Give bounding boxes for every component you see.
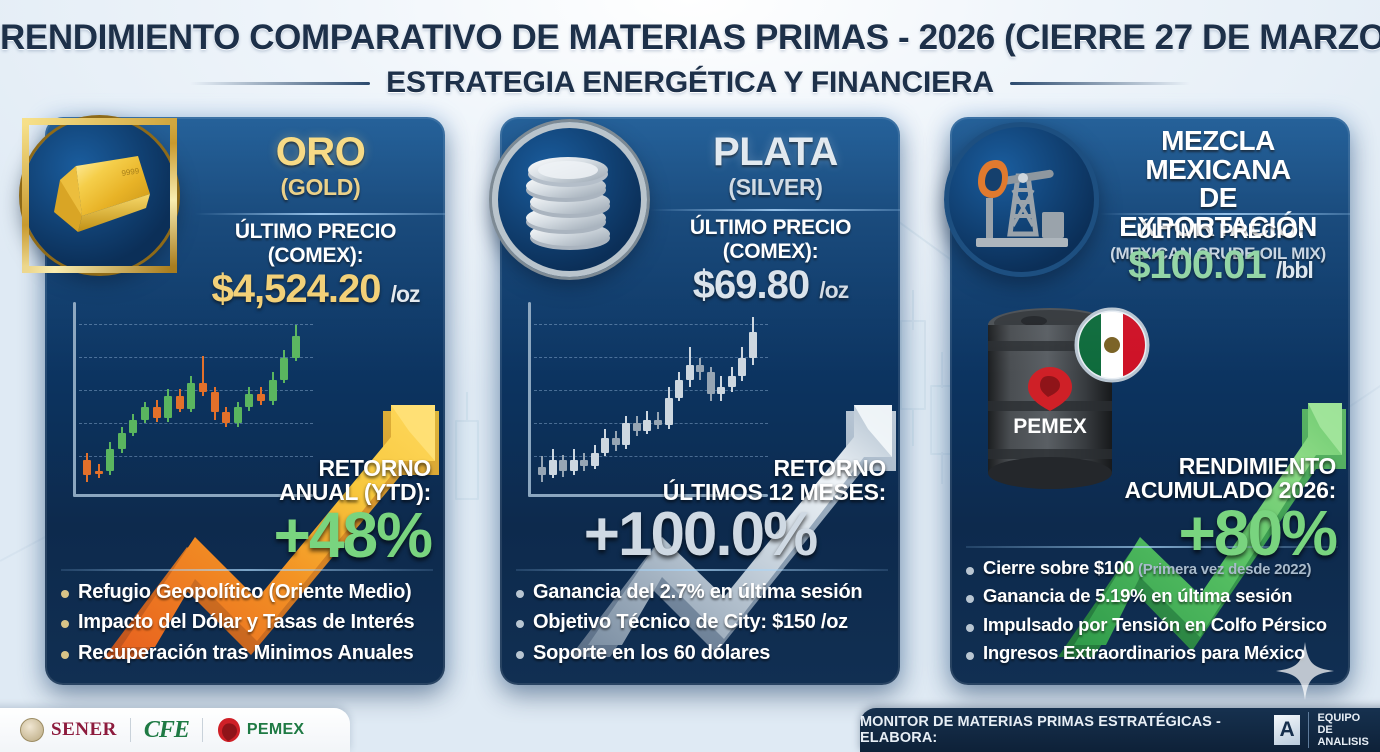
oil-bullet-1-text: Cierre sobre $100 (983, 557, 1134, 578)
bullet-dot-icon (61, 651, 69, 659)
list-item: Recuperación tras Minimos Anuales (61, 641, 433, 665)
bullet-dot-icon (966, 595, 974, 603)
list-item: Impacto del Dólar y Tasas de Interés (61, 610, 433, 634)
oil-badge (944, 122, 1099, 277)
list-item: Impulsado por Tensión en Colfo Pérsico (966, 614, 1338, 637)
gold-bar-icon: 9999 (46, 150, 154, 242)
team-logo: A EQUIPO DE ANALISIS (1274, 712, 1372, 749)
gold-bullet-3: Recuperación tras Minimos Anuales (78, 641, 414, 665)
team-label-line1: EQUIPO DE (1317, 712, 1360, 736)
team-label-line2: ANALISIS (1317, 736, 1368, 748)
silver-price-number: $69.80 (693, 263, 809, 307)
bullet-dot-icon (516, 651, 524, 659)
mexico-flag-icon (1076, 309, 1148, 381)
silver-coins-icon (514, 144, 626, 256)
silver-badge (492, 122, 647, 277)
oil-price-block: ÚLTIMO PRECIO: $100.01 /bbl (1105, 220, 1336, 286)
list-item: Ganancia del 2.7% en última sesión (516, 580, 888, 604)
footer-separator (202, 718, 203, 742)
gold-return-label-1: RETORNO (274, 457, 431, 481)
gold-bullets: Refugio Geopolítico (Oriente Medio) Impa… (61, 569, 433, 671)
oil-price-unit: /bbl (1276, 257, 1313, 283)
subtitle-row: ESTRATEGIA ENERGÉTICA Y FINANCIERA (0, 66, 1380, 100)
bullet-dot-icon (61, 620, 69, 628)
cfe-logo: CFE (144, 717, 189, 744)
footer-right-bar: MONITOR DE MATERIAS PRIMAS ESTRATÉGICAS … (860, 708, 1380, 752)
gold-price-block: ÚLTIMO PRECIO (COMEX): $4,524.20 /oz (200, 220, 431, 310)
list-item: Ganancia de 5.19% en última sesión (966, 585, 1338, 608)
oil-return-value: +80% (1125, 503, 1336, 564)
oil-price-number: $100.01 (1128, 243, 1266, 287)
team-mark-icon: A (1274, 715, 1301, 745)
footer-monitor-text: MONITOR DE MATERIAS PRIMAS ESTRATÉGICAS … (860, 714, 1262, 746)
gold-return-block: RETORNO ANUAL (YTD): +48% (274, 457, 431, 566)
silver-return-label-1: RETORNO (514, 457, 886, 481)
oil-name-1: MEZCLA MEXICANA (1100, 127, 1336, 184)
bullet-dot-icon (966, 652, 974, 660)
oil-bullet-2: Ganancia de 5.19% en última sesión (983, 585, 1292, 608)
svg-text:PEMEX: PEMEX (1013, 415, 1087, 438)
gold-header: ORO (GOLD) (210, 133, 431, 201)
oil-pumpjack-icon (966, 146, 1078, 254)
bullet-dot-icon (516, 620, 524, 628)
gold-subname: (GOLD) (210, 174, 431, 201)
gold-return-value: +48% (274, 505, 431, 566)
gold-chart-y-axis (73, 302, 76, 497)
silver-bullet-2: Objetivo Técnico de City: $150 /oz (533, 610, 848, 634)
gold-divider (195, 213, 445, 215)
gold-badge: 9999 (22, 118, 177, 273)
subtitle-rule-left (190, 82, 370, 85)
page-title: RENDIMIENTO COMPARATIVO DE MATERIAS PRIM… (0, 0, 1380, 58)
silver-return-value: +100.0% (514, 505, 886, 565)
list-item: Objetivo Técnico de City: $150 /oz (516, 610, 888, 634)
team-label: EQUIPO DE ANALISIS (1308, 712, 1372, 749)
silver-price-unit: /oz (819, 277, 848, 303)
oil-return-block: RENDIMIENTO ACUMULADO 2026: +80% (1125, 455, 1336, 564)
silver-name: PLATA (665, 133, 886, 172)
gold-price-label: ÚLTIMO PRECIO (COMEX): (200, 220, 431, 268)
bullet-dot-icon (516, 590, 524, 598)
footer-left-logos: SENER CFE PEMEX (0, 708, 350, 752)
pemex-mark-icon (216, 716, 242, 744)
bullet-dot-icon (966, 624, 974, 632)
sparkle-decoration-icon (1276, 642, 1334, 700)
page-header: RENDIMIENTO COMPARATIVO DE MATERIAS PRIM… (0, 0, 1380, 100)
silver-subname: (SILVER) (665, 174, 886, 201)
silver-bullet-1: Ganancia del 2.7% en última sesión (533, 580, 862, 604)
oil-price-value: $100.01 /bbl (1105, 244, 1336, 286)
silver-bullet-3: Soporte en los 60 dólares (533, 641, 770, 665)
silver-price-label: ÚLTIMO PRECIO (COMEX): (655, 216, 886, 264)
silver-bullets: Ganancia del 2.7% en última sesión Objet… (516, 569, 888, 671)
bullet-dot-icon (966, 567, 974, 575)
silver-return-block: RETORNO ÚLTIMOS 12 MESES: +100.0% (514, 457, 886, 564)
gold-name: ORO (210, 133, 431, 172)
silver-header: PLATA (SILVER) (665, 133, 886, 201)
oil-return-label-1: RENDIMIENTO (1125, 455, 1336, 479)
bullet-dot-icon (61, 590, 69, 598)
panels-container: ORO (GOLD) ÚLTIMO PRECIO (COMEX): $4,524… (0, 117, 1380, 692)
silver-price-value: $69.80 /oz (655, 264, 886, 306)
mexico-seal-icon (20, 718, 44, 742)
page-subtitle: ESTRATEGIA ENERGÉTICA Y FINANCIERA (386, 66, 994, 100)
gold-bullet-2: Impacto del Dólar y Tasas de Interés (78, 610, 414, 634)
list-item: Soporte en los 60 dólares (516, 641, 888, 665)
sener-label: SENER (51, 719, 117, 741)
sener-logo: SENER (20, 718, 117, 742)
oil-price-label: ÚLTIMO PRECIO: (1105, 220, 1336, 244)
silver-price-block: ÚLTIMO PRECIO (COMEX): $69.80 /oz (655, 216, 886, 306)
oil-bullet-4: Ingresos Extraordinarios para México (983, 642, 1305, 665)
oil-divider (1100, 213, 1350, 215)
silver-bullets-rule (516, 569, 888, 571)
gold-bullet-1: Refugio Geopolítico (Oriente Medio) (78, 580, 411, 604)
gold-price-unit: /oz (391, 281, 420, 307)
silver-divider (650, 209, 900, 211)
page-footer: SENER CFE PEMEX MONITOR DE MATERIAS PRIM… (0, 704, 1380, 752)
list-item: Refugio Geopolítico (Oriente Medio) (61, 580, 433, 604)
oil-bullet-3: Impulsado por Tensión en Colfo Pérsico (983, 614, 1327, 637)
pemex-logo: PEMEX (216, 716, 305, 744)
pemex-label: PEMEX (247, 721, 305, 739)
subtitle-rule-right (1010, 82, 1190, 85)
footer-separator (130, 718, 131, 742)
